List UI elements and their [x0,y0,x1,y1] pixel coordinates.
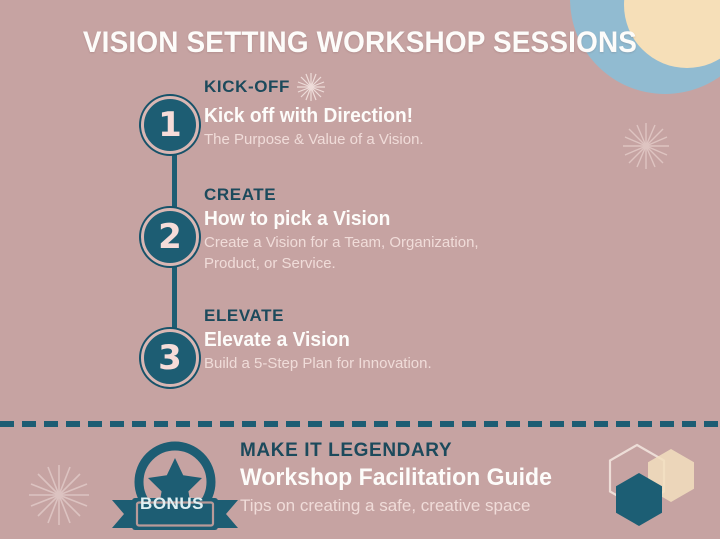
step-description: Create a Vision for a Team, Organization… [204,233,494,274]
step-badge-column: 3 [136,303,204,387]
step-eyebrow: ELEVATE [204,305,284,326]
step-headline: Kick off with Direction! [204,103,590,129]
sparkle-bottom-left-icon [26,462,92,528]
sparkle-kickoff-icon [296,72,326,102]
page-title: VISION SETTING WORKSHOP SESSIONS [25,26,695,60]
step-headline: How to pick a Vision [204,206,590,232]
dashed-divider [0,421,720,427]
step-item: 3 ELEVATE Elevate a Vision Build a 5-Ste… [136,303,606,387]
bonus-headline: Workshop Facilitation Guide [240,463,701,493]
infographic-poster: VISION SETTING WORKSHOP SESSIONS 1 KICK-… [0,0,720,539]
step-description: The Purpose & Value of a Vision. [204,130,606,151]
step-eyebrow-row: CREATE [204,184,606,205]
step-badge-column: 1 [136,70,204,154]
steps-list: 1 KICK-OFF [136,70,606,387]
bonus-badge-icon [110,438,240,534]
step-number-badge: 1 [141,96,199,154]
step-description: Build a 5-Step Plan for Innovation. [204,354,606,375]
bonus-badge: BONUS [110,438,240,534]
step-headline: Elevate a Vision [204,327,590,353]
bonus-eyebrow: MAKE IT LEGENDARY [240,440,720,462]
step-eyebrow-row: ELEVATE [204,305,606,326]
step-item: 1 KICK-OFF [136,70,606,154]
bonus-section: BONUS MAKE IT LEGENDARY Workshop Facilit… [110,438,720,534]
step-text-block: KICK-OFF [204,70,606,151]
bonus-text-block: MAKE IT LEGENDARY Workshop Facilitation … [240,438,720,517]
step-text-block: CREATE How to pick a Vision Create a Vis… [204,182,606,275]
step-number-badge: 3 [141,329,199,387]
bonus-description: Tips on creating a safe, creative space [240,495,720,517]
step-item: 2 CREATE How to pick a Vision Create a V… [136,182,606,275]
step-eyebrow: KICK-OFF [204,76,290,97]
step-text-block: ELEVATE Elevate a Vision Build a 5-Step … [204,303,606,375]
step-number-badge: 2 [141,208,199,266]
step-eyebrow-row: KICK-OFF [204,72,606,102]
step-badge-column: 2 [136,182,204,266]
step-eyebrow: CREATE [204,184,276,205]
sparkle-right-icon [620,120,672,172]
